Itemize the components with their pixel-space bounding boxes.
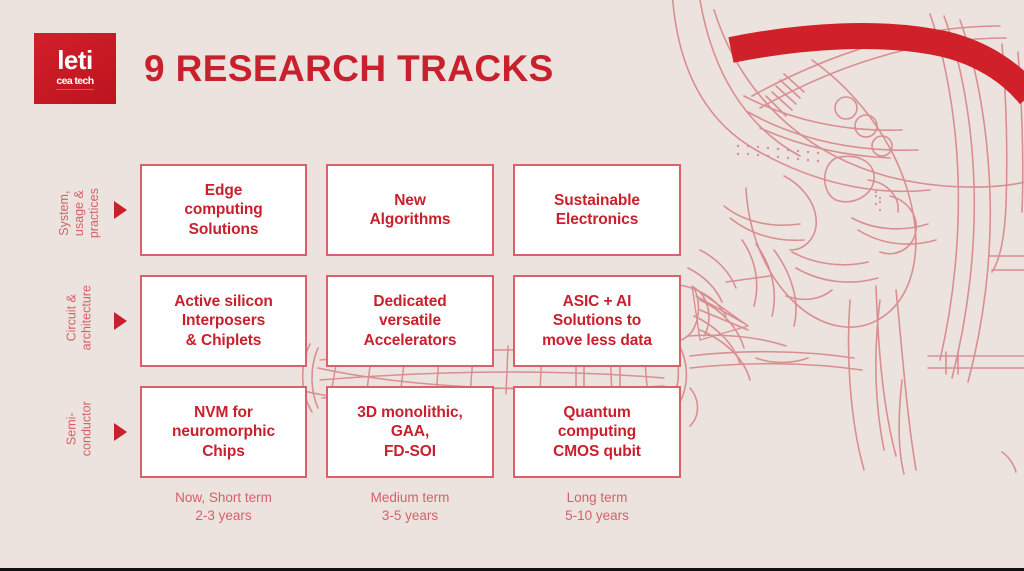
track-cell-label: 3D monolithic, GAA, FD-SOI — [357, 403, 462, 461]
row-label-system-usage-practices: System, usage & practices — [57, 167, 101, 259]
column-footer-long-term: Long term 5-10 years — [513, 489, 681, 524]
track-cell-label: Active silicon Interposers & Chiplets — [174, 292, 273, 350]
track-cell-label: Sustainable Electronics — [554, 191, 640, 230]
track-cell-label: ASIC + AI Solutions to move less data — [542, 292, 652, 350]
track-cell-r3c1[interactable]: NVM for neuromorphic Chips — [140, 386, 307, 478]
track-cell-r3c2[interactable]: 3D monolithic, GAA, FD-SOI — [326, 386, 494, 478]
track-cell-label: Dedicated versatile Accelerators — [364, 292, 457, 350]
slide-canvas: leti cea tech 9 RESEARCH TRACKS System, … — [0, 0, 1024, 571]
track-cell-r1c1[interactable]: Edge computing Solutions — [140, 164, 307, 256]
track-cell-r2c1[interactable]: Active silicon Interposers & Chiplets — [140, 275, 307, 367]
track-cell-label: New Algorithms — [370, 191, 451, 230]
triangle-right-icon-row-3 — [114, 423, 127, 441]
research-tracks-matrix: System, usage & practices Edge computing… — [0, 0, 1024, 571]
triangle-right-icon-row-2 — [114, 312, 127, 330]
track-cell-r1c3[interactable]: Sustainable Electronics — [513, 164, 681, 256]
row-label-circuit-architecture: Circuit & architecture — [64, 272, 94, 364]
track-cell-r2c2[interactable]: Dedicated versatile Accelerators — [326, 275, 494, 367]
track-cell-label: Edge computing Solutions — [184, 181, 262, 239]
column-footer-medium-term: Medium term 3-5 years — [326, 489, 494, 524]
track-cell-label: NVM for neuromorphic Chips — [172, 403, 275, 461]
triangle-right-icon-row-1 — [114, 201, 127, 219]
track-cell-r3c3[interactable]: Quantum computing CMOS qubit — [513, 386, 681, 478]
row-label-semiconductor: Semi- conductor — [64, 383, 94, 475]
column-footer-short-term: Now, Short term 2-3 years — [140, 489, 307, 524]
track-cell-label: Quantum computing CMOS qubit — [553, 403, 641, 461]
track-cell-r1c2[interactable]: New Algorithms — [326, 164, 494, 256]
track-cell-r2c3[interactable]: ASIC + AI Solutions to move less data — [513, 275, 681, 367]
